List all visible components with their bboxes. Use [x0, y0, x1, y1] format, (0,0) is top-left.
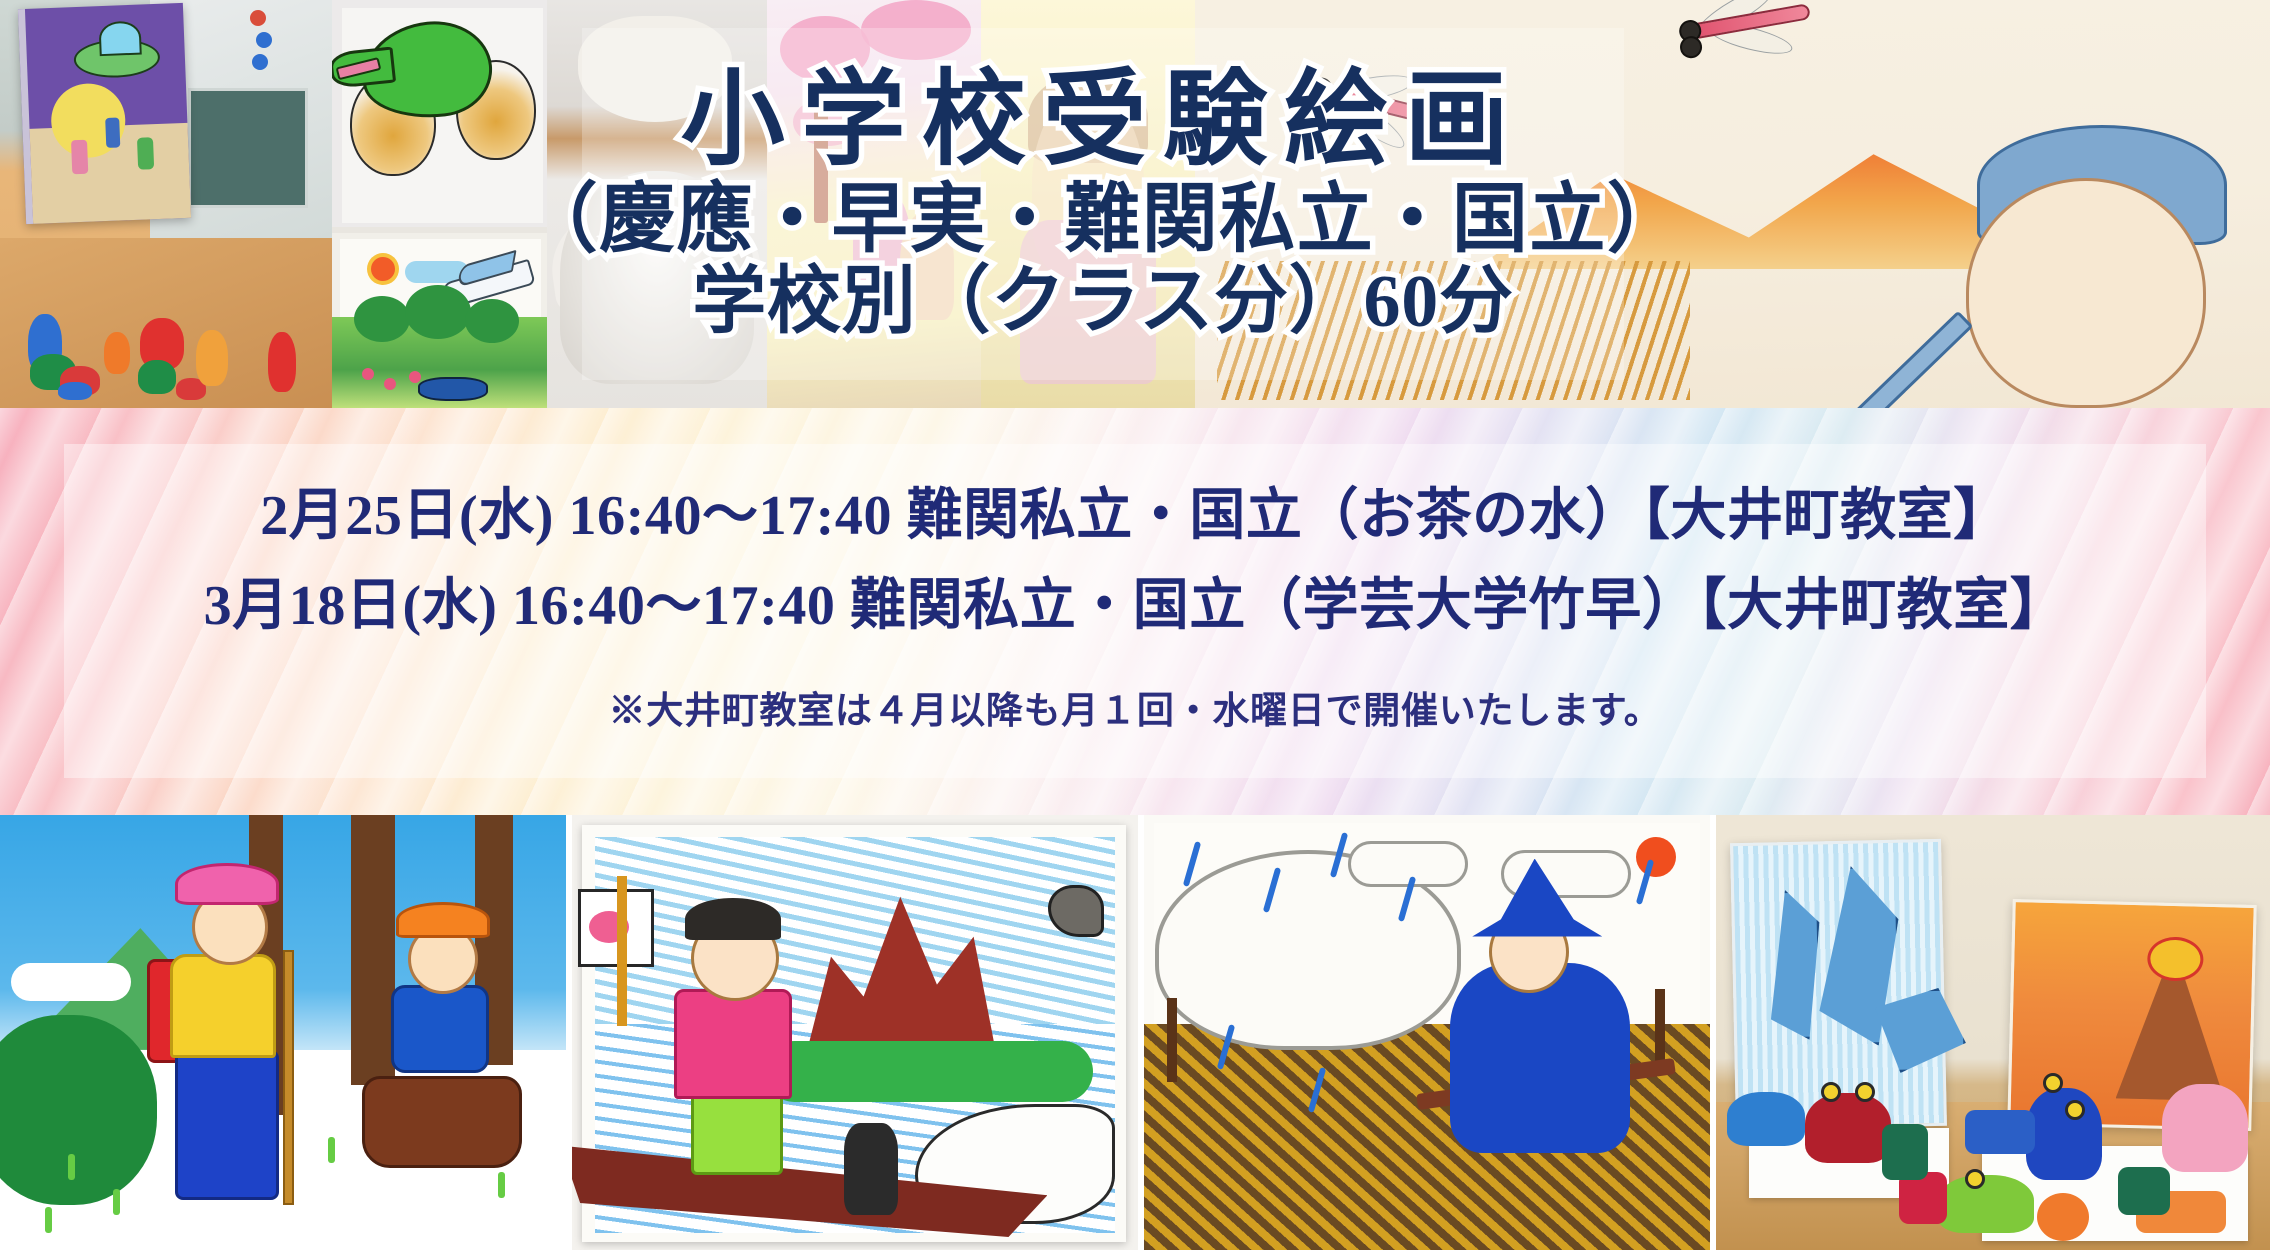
photo-clay-figures-with-crystal-and-volcano-drawings: [1716, 815, 2270, 1250]
poster-title-line-2: （慶應・早実・難関私立・国立）: [522, 179, 1685, 261]
poster-title-block: 小学校受験絵画 （慶應・早実・難関私立・国立） 学校別（クラス分）60分: [582, 28, 1624, 380]
schedule-band: 2月25日(水) 16:40〜17:40 難関私立・国立（お茶の水）【大井町教室…: [0, 408, 2270, 815]
photo-hiking-children-in-forest-drawing: [0, 815, 566, 1250]
schedule-panel: 2月25日(水) 16:40〜17:40 難関私立・国立（お茶の水）【大井町教室…: [64, 444, 2206, 778]
schedule-note: ※大井町教室は４月以降も月１回・水曜日で開催いたします。: [608, 680, 1661, 734]
schedule-row-1: 2月25日(水) 16:40〜17:40 難関私立・国立（お茶の水）【大井町教室…: [260, 488, 2010, 544]
poster-title-line-3: 学校別（クラス分）60分: [692, 263, 1513, 343]
hero-stacked-photos: [332, 0, 547, 408]
photo-crocodile-hatching-from-egg-drawing: [332, 0, 547, 227]
photo-witch-flying-in-rain-drawing: [1144, 815, 1710, 1250]
hero-banner: 小学校受験絵画 （慶應・早実・難関私立・国立） 学校別（クラス分）60分: [0, 0, 2270, 408]
photo-classroom-alien-drawing-and-clay-figures: [0, 0, 332, 408]
poster-title-line-1: 小学校受験絵画: [681, 65, 1525, 177]
bottom-photo-row: [0, 815, 2270, 1250]
photo-airplane-over-forest-drawing: [332, 233, 547, 408]
schedule-row-2: 3月18日(水) 16:40〜17:40 難関私立・国立（学芸大学竹早）【大井町…: [204, 578, 2067, 634]
photo-momotaro-on-boat-drawing: [572, 815, 1138, 1250]
poster-root: 小学校受験絵画 （慶應・早実・難関私立・国立） 学校別（クラス分）60分 2月2…: [0, 0, 2270, 1250]
